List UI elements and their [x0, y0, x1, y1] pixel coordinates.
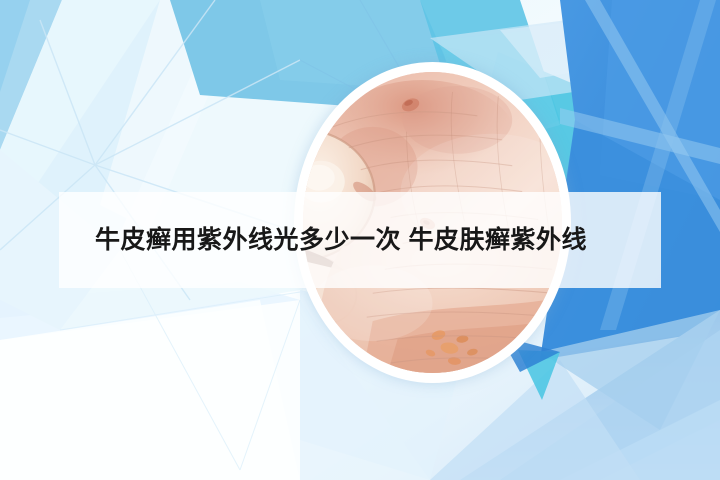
image-canvas: 牛皮癣用紫外线光多少一次 牛皮肤癣紫外线	[0, 0, 720, 480]
caption-title: 牛皮癣用紫外线光多少一次 牛皮肤癣紫外线	[95, 225, 587, 255]
caption-banner: 牛皮癣用紫外线光多少一次 牛皮肤癣紫外线	[59, 192, 661, 288]
